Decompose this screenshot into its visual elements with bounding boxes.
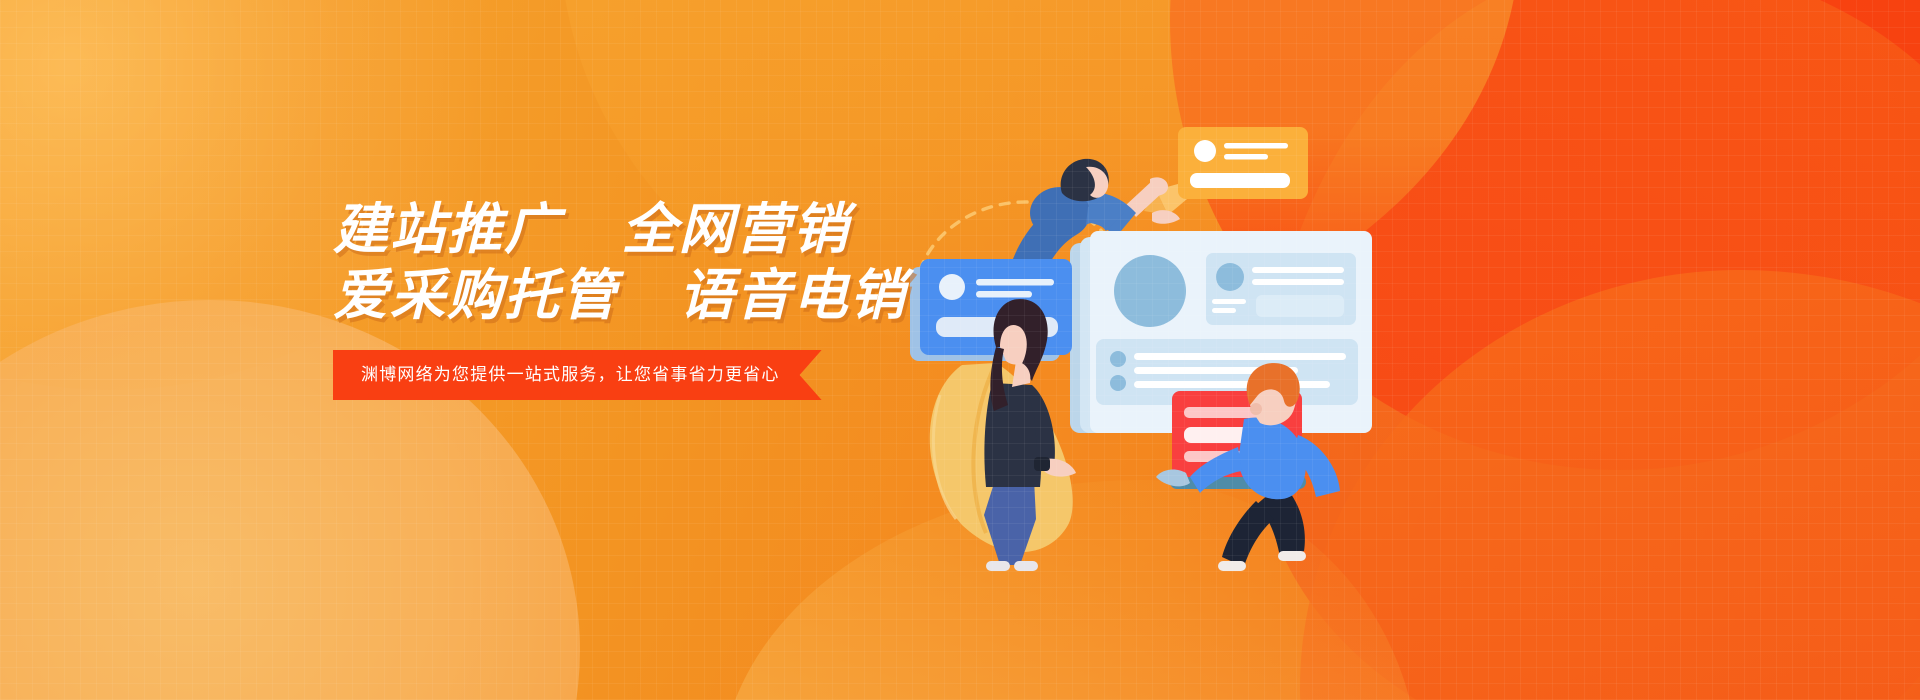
yellow-profile-card: [1178, 127, 1308, 199]
promo-banner: 建站推广 全网营销 爱采购托管 语音电销 渊博网络为您提供一站式服务，让您省事省…: [0, 0, 1920, 700]
headline-line-2-part-1: 爱采购托管: [333, 264, 618, 326]
headline-line-1-part-1: 建站推广: [333, 198, 561, 260]
tagline-ribbon: 渊博网络为您提供一站式服务，让您省事省力更省心: [333, 350, 822, 400]
headline-line-2-part-2: 语音电销: [679, 264, 907, 326]
banner-text-block: 建站推广 全网营销 爱采购托管 语音电销 渊博网络为您提供一站式服务，让您省事省…: [333, 196, 1093, 400]
headline-line-1: 建站推广 全网营销: [333, 196, 1093, 262]
headline-line-1-part-2: 全网营销: [622, 198, 850, 260]
headline-line-2: 爱采购托管 语音电销: [333, 262, 1093, 328]
tagline-text: 渊博网络为您提供一站式服务，让您省事省力更省心: [361, 365, 780, 384]
